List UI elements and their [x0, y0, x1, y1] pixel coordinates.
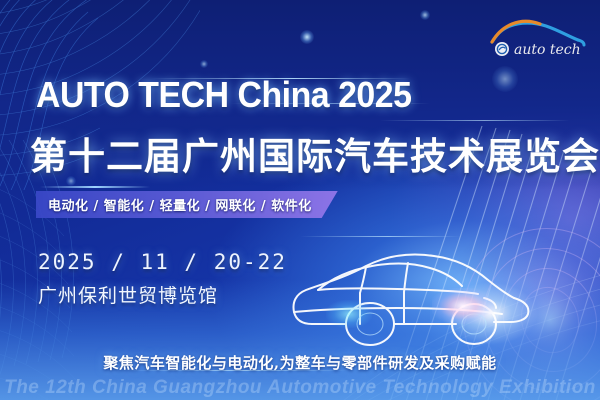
event-date: 2025 / 11 / 20-22: [38, 250, 287, 274]
logo-wordmark: auto tech: [514, 42, 581, 58]
footer-slogan-english: The 12th China Guangzhou Automotive Tech…: [0, 377, 600, 399]
bokeh-dot: [492, 66, 518, 92]
wheel-glow: [326, 300, 372, 328]
tagline-accent-line: [40, 186, 150, 188]
bokeh-dot: [300, 30, 314, 44]
page-title-chinese: 第十二届广州国际汽车技术展览会: [30, 126, 600, 180]
light-streak: [300, 236, 460, 237]
auto-tech-china-2025-poster: auto tech AUTO TECH China: [0, 0, 600, 400]
tagline-text: 电动化 / 智能化 / 轻量化 / 网联化 / 软件化: [48, 195, 312, 214]
light-streak: [380, 120, 570, 121]
event-venue: 广州保利世贸博览馆: [38, 281, 218, 308]
bokeh-dot: [200, 60, 208, 68]
bokeh-dot: [420, 10, 430, 20]
car-wireframe-illustration: [288, 238, 538, 348]
auto-tech-logo[interactable]: auto tech: [482, 6, 592, 62]
headlight-flare: [432, 288, 494, 324]
footer-slogan-chinese: 聚焦汽车智能化与电动化,为整车与零部件研发及采购赋能: [0, 352, 600, 373]
page-title-english: AUTO TECH China 2025: [36, 74, 411, 116]
tagline-badge: 电动化 / 智能化 / 轻量化 / 网联化 / 软件化: [36, 191, 338, 218]
